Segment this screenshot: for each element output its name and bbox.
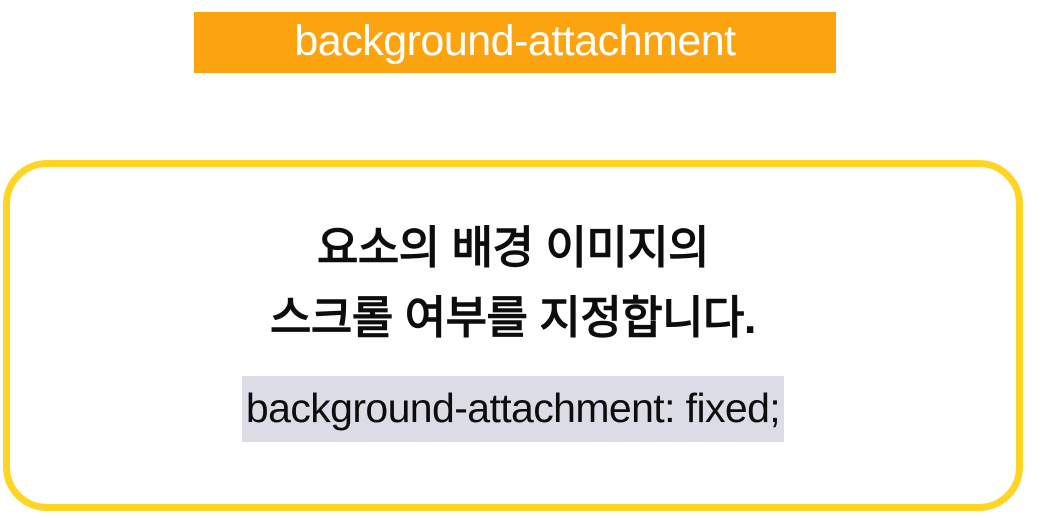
code-snippet-row: background-attachment: fixed; [242,376,784,442]
title-banner: background-attachment [194,12,836,73]
page-title: background-attachment [294,20,735,63]
slide-canvas: background-attachment 요소의 배경 이미지의 스크롤 여부… [0,0,1049,518]
description-line-2: 스크롤 여부를 지정합니다. [270,295,756,340]
content-card: 요소의 배경 이미지의 스크롤 여부를 지정합니다. background-at… [3,160,1023,511]
code-snippet-highlight: background-attachment: fixed; [242,376,784,442]
card-body: 요소의 배경 이미지의 스크롤 여부를 지정합니다. background-at… [10,167,1016,504]
description-line-1: 요소의 배경 이미지의 [317,225,709,270]
